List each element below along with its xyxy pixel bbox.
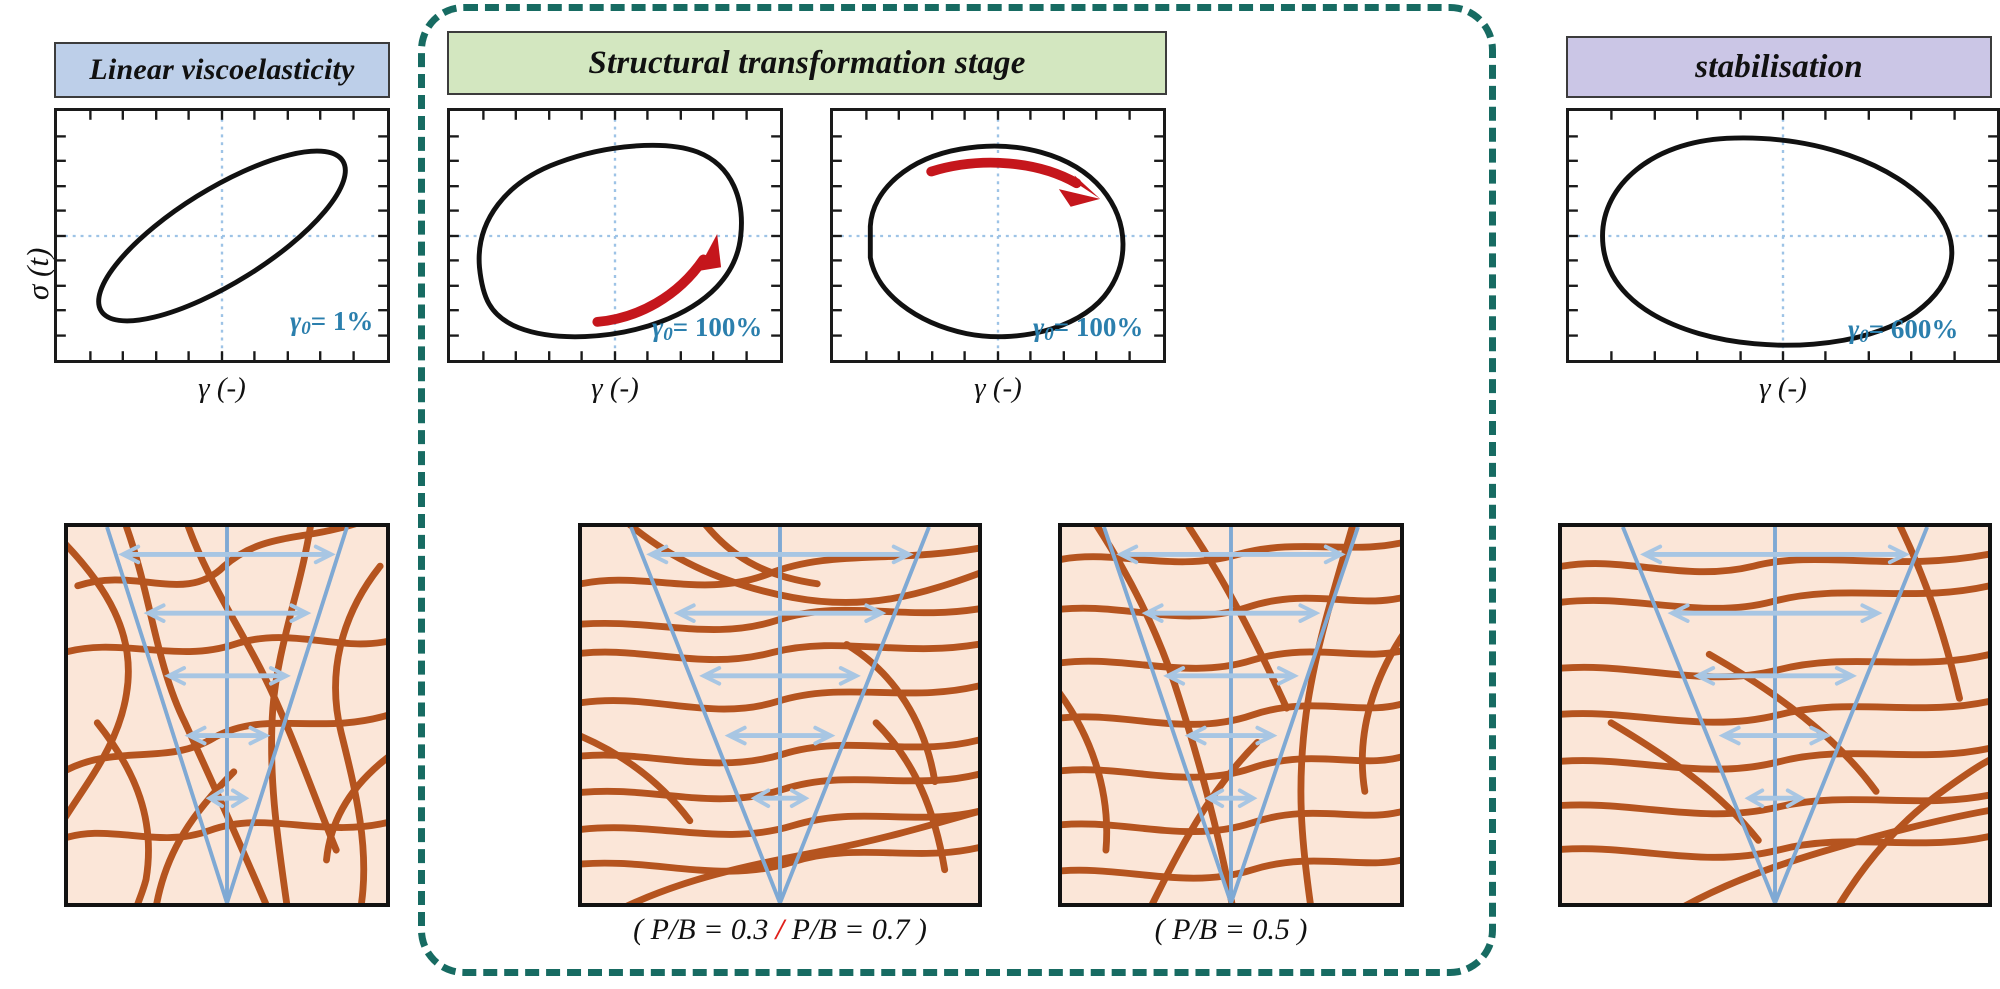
gamma-equation: = 600% (1869, 314, 1959, 344)
caption-pb-left: ( P/B = 0.3 / P/B = 0.7 ) (540, 913, 1020, 947)
microstructure-panel-1 (64, 523, 390, 907)
lissajous-curve-2 (479, 145, 741, 336)
y-axis-label: σ (t) (20, 248, 56, 300)
gamma-equation: = 1% (311, 306, 374, 336)
gamma-label-1: γ0= 1% (290, 306, 373, 340)
red-arrow-horizontal (931, 163, 1100, 207)
microstructure-panel-2 (578, 523, 982, 907)
microstructure-panel-4 (1558, 523, 1992, 907)
gamma-label-4: γ0= 600% (1848, 314, 1958, 348)
caption-pb-right: ( P/B = 0.5 ) (1058, 913, 1404, 947)
banner-linear-label: Linear viscoelasticity (89, 53, 354, 87)
gamma-symbol: γ (1033, 312, 1044, 342)
caption-pb-left-open: ( P/B = 0.3 (633, 913, 776, 946)
x-axis-label-1: γ (-) (54, 372, 390, 405)
caption-pb-left-close: P/B = 0.7 ) (784, 913, 927, 946)
banner-stabilisation: stabilisation (1566, 36, 1992, 98)
gamma-label-3: γ0= 100% (1033, 312, 1143, 346)
gamma-symbol: γ (1848, 314, 1859, 344)
x-axis-label-2: γ (-) (447, 372, 783, 405)
gamma-equation: = 100% (673, 312, 763, 342)
x-axis-label-3: γ (-) (830, 372, 1166, 405)
gamma-symbol: γ (290, 306, 301, 336)
figure-root: Linear viscoelasticity Structural transf… (0, 0, 2000, 989)
gamma-subscript: 0 (301, 318, 311, 339)
x-axis-label-4: γ (-) (1566, 372, 2000, 405)
gamma-subscript: 0 (1044, 324, 1054, 345)
shear-cone (1104, 527, 1358, 903)
banner-structural-transformation: Structural transformation stage (447, 31, 1167, 95)
gamma-subscript: 0 (663, 324, 673, 345)
banner-linear-viscoelasticity: Linear viscoelasticity (54, 42, 390, 98)
banner-structural-label: Structural transformation stage (588, 45, 1025, 82)
lissajous-curve-3 (870, 146, 1123, 337)
caption-pb-slash: / (776, 913, 784, 946)
gamma-symbol: γ (652, 312, 663, 342)
microstructure-panel-3 (1058, 523, 1404, 907)
gamma-equation: = 100% (1054, 312, 1144, 342)
gamma-label-2: γ0= 100% (652, 312, 762, 346)
banner-stabilisation-label: stabilisation (1695, 49, 1863, 86)
gamma-subscript: 0 (1859, 326, 1869, 347)
